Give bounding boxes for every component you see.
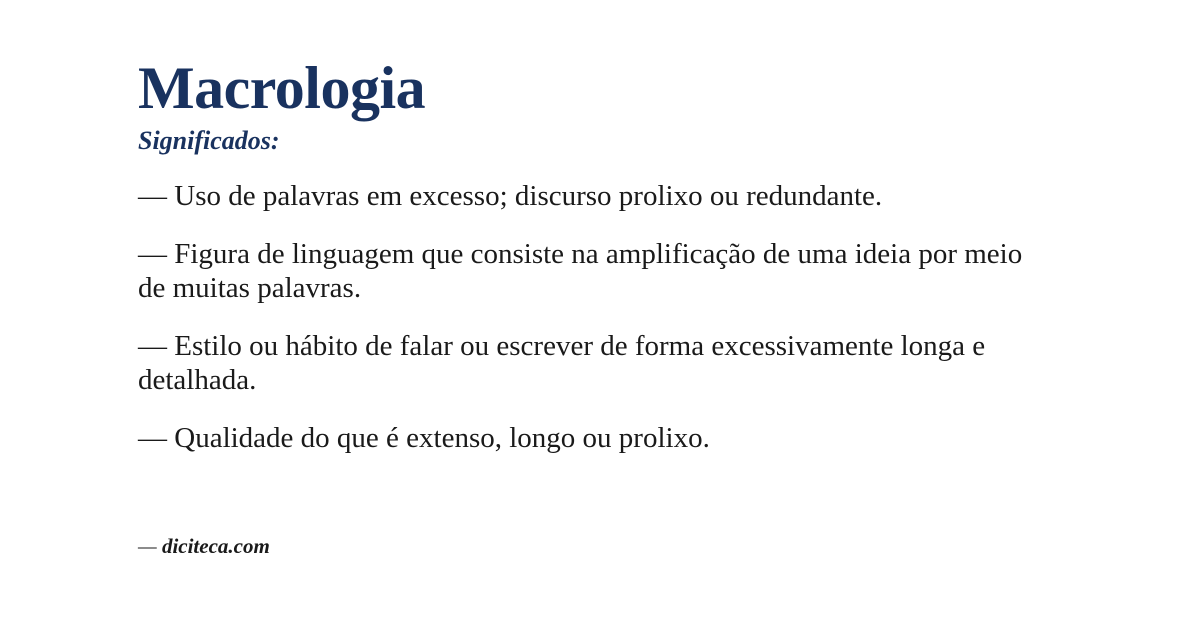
dictionary-entry-card: Macrologia Significados: — Uso de palavr… bbox=[0, 0, 1200, 628]
definition-text: Uso de palavras em excesso; discurso pro… bbox=[174, 180, 882, 212]
definition-item: — Estilo ou hábito de falar ou escrever … bbox=[138, 329, 1050, 398]
page-title: Macrologia bbox=[138, 56, 1050, 121]
meanings-subtitle: Significados: bbox=[138, 127, 1050, 156]
definition-item: — Uso de palavras em excesso; discurso p… bbox=[138, 179, 1050, 214]
em-dash-marker: — bbox=[138, 330, 174, 362]
source-attribution: — diciteca.com bbox=[138, 534, 270, 559]
definition-text: Estilo ou hábito de falar ou escrever de… bbox=[138, 330, 985, 397]
definition-text: Figura de linguagem que consiste na ampl… bbox=[138, 238, 1022, 305]
em-dash-marker: — bbox=[138, 534, 162, 558]
em-dash-marker: — bbox=[138, 238, 174, 270]
definition-text: Qualidade do que é extenso, longo ou pro… bbox=[174, 422, 710, 454]
source-name: diciteca.com bbox=[162, 534, 270, 558]
definitions-list: — Uso de palavras em excesso; discurso p… bbox=[138, 179, 1050, 455]
definition-item: — Figura de linguagem que consiste na am… bbox=[138, 237, 1050, 306]
entry-content: Macrologia Significados: — Uso de palavr… bbox=[138, 56, 1050, 455]
definition-item: — Qualidade do que é extenso, longo ou p… bbox=[138, 421, 1050, 456]
em-dash-marker: — bbox=[138, 422, 174, 454]
em-dash-marker: — bbox=[138, 180, 174, 212]
